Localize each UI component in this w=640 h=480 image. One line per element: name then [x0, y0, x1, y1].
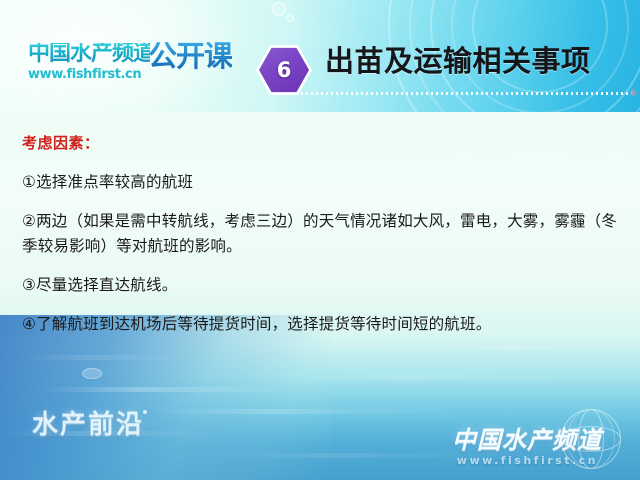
watermark-left-dot: [143, 410, 147, 414]
watermark-bottom-left: 水产前沿: [32, 412, 144, 438]
slide-header: 中国水产频道 www.fishfirst.cn 公开课 6 出苗及运输相关事项: [0, 0, 640, 112]
list-item: ③尽量选择直达航线。: [22, 273, 622, 298]
brand-logo: 中国水产频道 www.fishfirst.cn: [28, 43, 150, 81]
watermark-brand-url: www.fishfirst.cn: [457, 455, 598, 466]
list-item: ④了解航班到达机场后等待提货时间，选择提货等待时间短的航班。: [22, 312, 622, 337]
brand-logo-url: www.fishfirst.cn: [28, 68, 150, 81]
slide-content: 考虑因素： ①选择准点率较高的航班 ②两边（如果是需中转航线，考虑三边）的天气情…: [0, 112, 640, 362]
section-number-badge: 6: [256, 44, 312, 96]
brand-logo-name: 中国水产频道: [28, 43, 150, 65]
page-title: 出苗及运输相关事项: [325, 46, 591, 78]
list-item: ①选择准点率较高的航班: [22, 170, 622, 195]
considerations-list: ①选择准点率较高的航班 ②两边（如果是需中转航线，考虑三边）的天气情况诸如大风，…: [22, 170, 622, 338]
considerations-heading: 考虑因素：: [22, 132, 100, 153]
watermark-bottom-right: 中国水产频道 www.fishfirst.cn: [408, 410, 628, 472]
watermark-brand-name: 中国水产频道: [452, 428, 602, 452]
list-item: ②两边（如果是需中转航线，考虑三边）的天气情况诸如大风，雷电，大雾，雾霾（冬季较…: [22, 209, 622, 259]
brand-course-label: 公开课: [148, 42, 232, 71]
slide-canvas: 中国水产频道 www.fishfirst.cn 公开课 6 出苗及运输相关事项 …: [0, 0, 640, 480]
section-number-text: 6: [256, 44, 312, 96]
title-rule-end-dot: [630, 89, 637, 96]
title-dotted-rule: [286, 92, 636, 95]
